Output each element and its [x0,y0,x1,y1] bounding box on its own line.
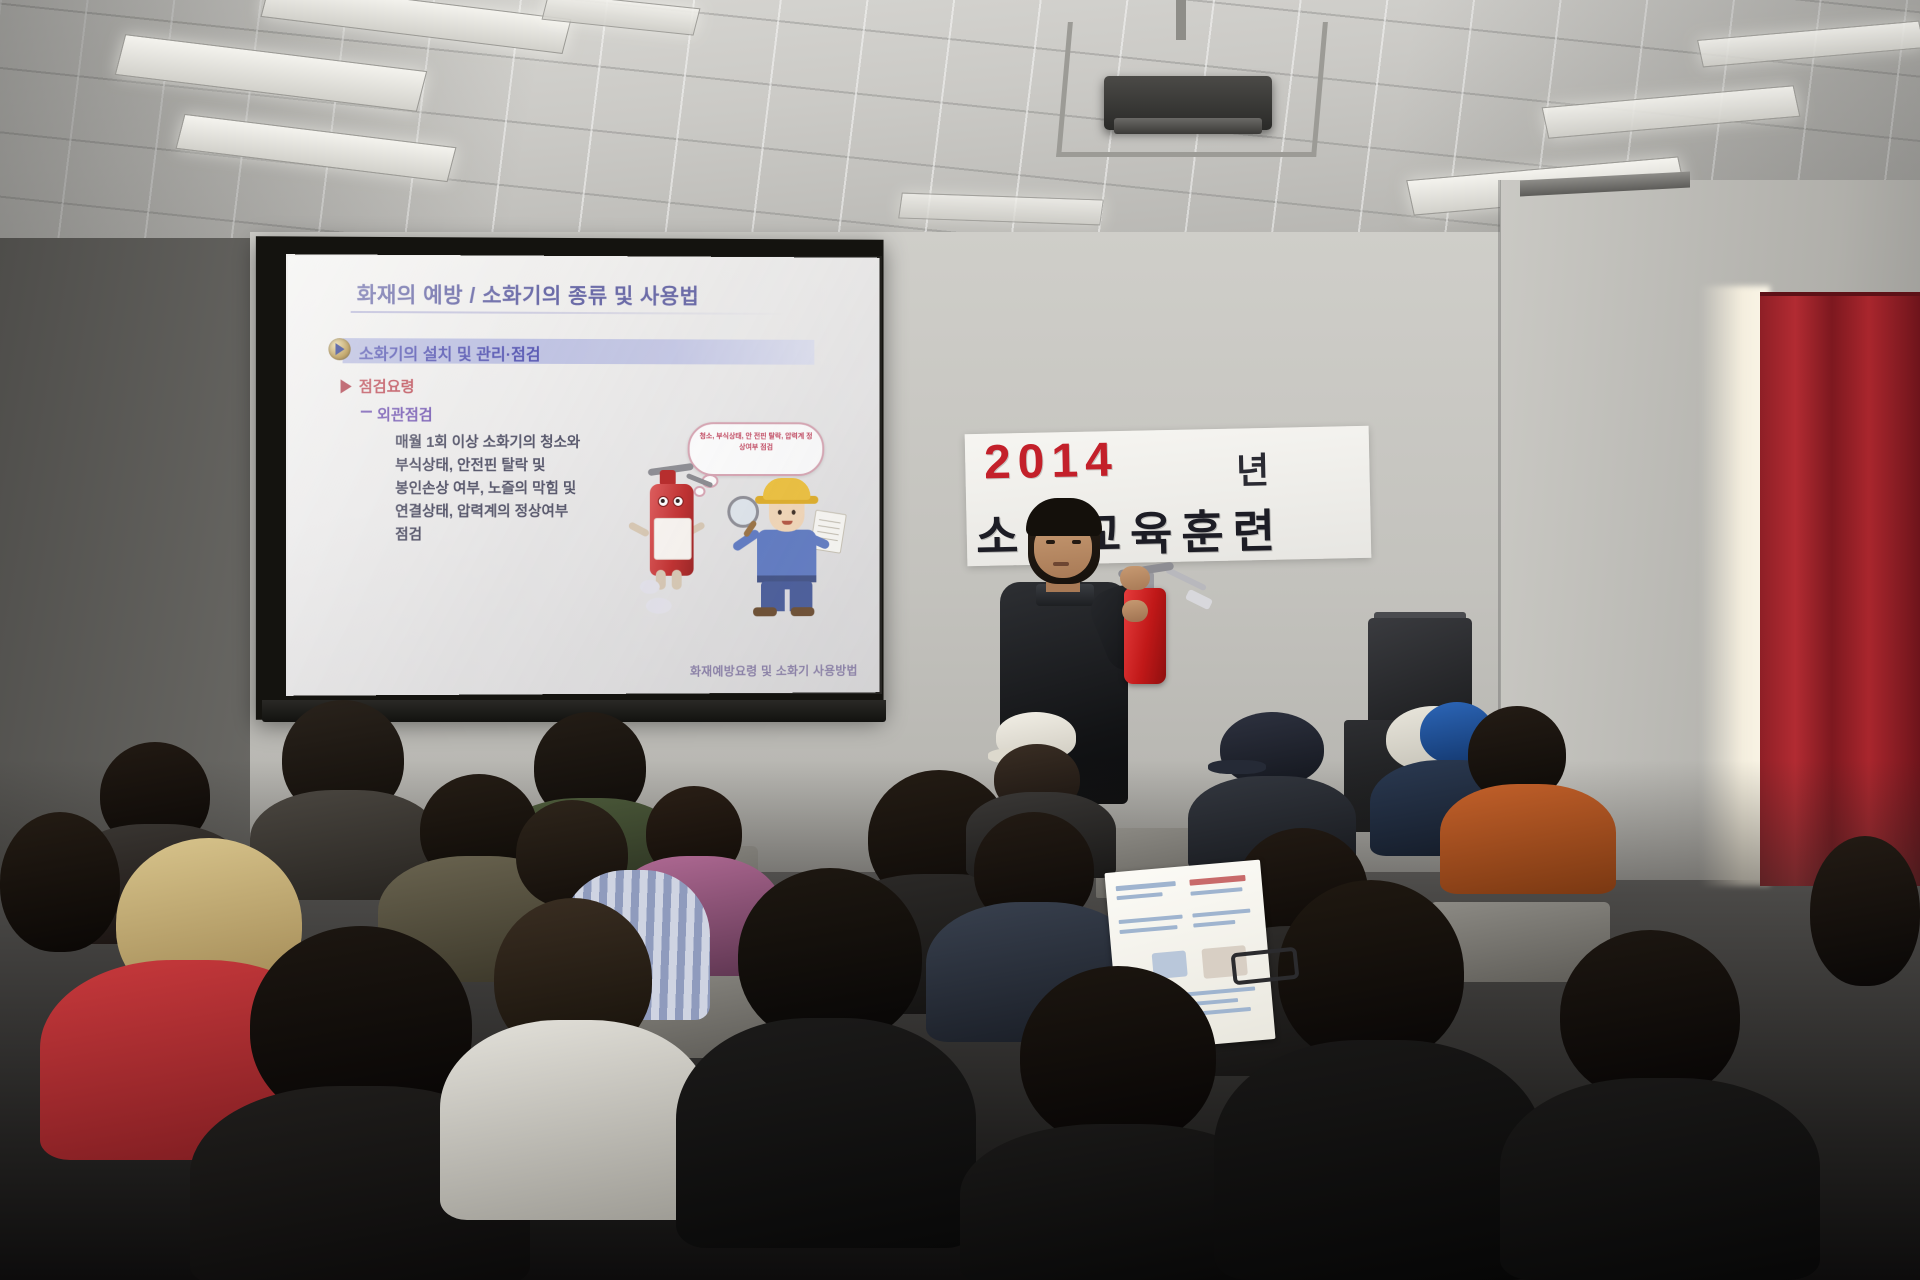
booklet-line [1193,920,1235,928]
extinguisher-label [654,518,692,560]
booklet-line [1119,925,1177,934]
triangle-bullet-icon [341,379,352,393]
slide-title: 화재의 예방 / 소화기의 종류 및 사용법 [357,279,699,311]
mascot-eye [658,496,669,507]
booklet-heading [1189,875,1245,886]
inspector-mouth [782,521,793,525]
presenter-hand [1122,600,1148,622]
booklet-line [1119,915,1183,925]
inspector-character [743,478,842,617]
attendee-shoulders [1500,1078,1820,1280]
presenter-hand [1120,566,1150,590]
inspector-face [769,500,805,532]
presenter-eye [1072,540,1081,544]
speech-bubble-text: 청소, 부식상태, 안 전핀 탈락, 압력계 정상여부 점검 [698,431,815,453]
inspector-shoe [753,607,777,616]
level2-bullet: 외관점검 [377,404,433,425]
speech-bubble-dot [694,486,706,497]
section-heading: 소화기의 설치 및 관리·점검 [359,340,541,365]
smoke-puff-icon [640,580,660,594]
clipboard-line [818,525,840,529]
slide-illustration: 청소, 부식상태, 안 전핀 탈락, 압력계 정상여부 점검 [640,422,850,622]
level1-bullet: 점검요령 [359,375,415,396]
inspector-leg-gap [785,589,790,611]
attendee-head [0,812,120,952]
booklet-line [1192,909,1250,918]
attendee-head [1020,966,1216,1146]
inspector-shoe [791,607,815,616]
mascot-leg [672,570,682,590]
inspector-torso [757,530,816,582]
inspector-eye [792,510,796,515]
mascot-eye [673,496,684,507]
banner-year-suffix: 년 [1235,442,1269,495]
presenter-eye [1046,540,1055,544]
booklet-line [1190,887,1242,896]
slide-title-rule [351,311,787,315]
banner-main-text: 소방교육훈련 [975,495,1284,567]
smoke-puff-icon [646,598,672,614]
dash-bullet-icon [361,411,372,413]
eyeglasses-icon [1231,947,1300,986]
booklet-line [1116,881,1176,891]
attendee-white-shirt [440,1020,710,1220]
slide-footer-note: 화재예방요령 및 소화기 사용방법 [690,662,858,680]
banner-year: 2014 [983,433,1119,491]
attendee-shoulders [1214,1040,1544,1280]
attendee-orange-vest [1440,784,1616,894]
projection-screen: 화재의 예방 / 소화기의 종류 및 사용법 소화기의 설치 및 관리·점검 점… [286,254,880,696]
clipboard-line [819,519,841,523]
play-bullet-icon [328,338,350,360]
cap-brim [1208,760,1266,774]
navy-cap-icon [1220,712,1324,786]
speech-bubble: 청소, 부식상태, 안 전핀 탈락, 압력계 정상여부 점검 [688,422,825,476]
safety-helmet-icon [763,478,810,500]
attendee-shoulders [676,1018,976,1248]
booklet-line [1117,892,1163,900]
attendee-head [1560,930,1740,1100]
presenter-mouth [1053,562,1069,566]
inspector-eye [778,510,782,515]
attendee-glasses [1278,880,1464,1064]
projector-lens [1114,118,1262,134]
attendee-head [1810,836,1920,986]
photo-scene: 화재의 예방 / 소화기의 종류 및 사용법 소화기의 설치 및 관리·점검 점… [0,0,1920,1280]
clipboard-line [817,531,839,535]
presentation-slide: 화재의 예방 / 소화기의 종류 및 사용법 소화기의 설치 및 관리·점검 점… [286,254,880,696]
